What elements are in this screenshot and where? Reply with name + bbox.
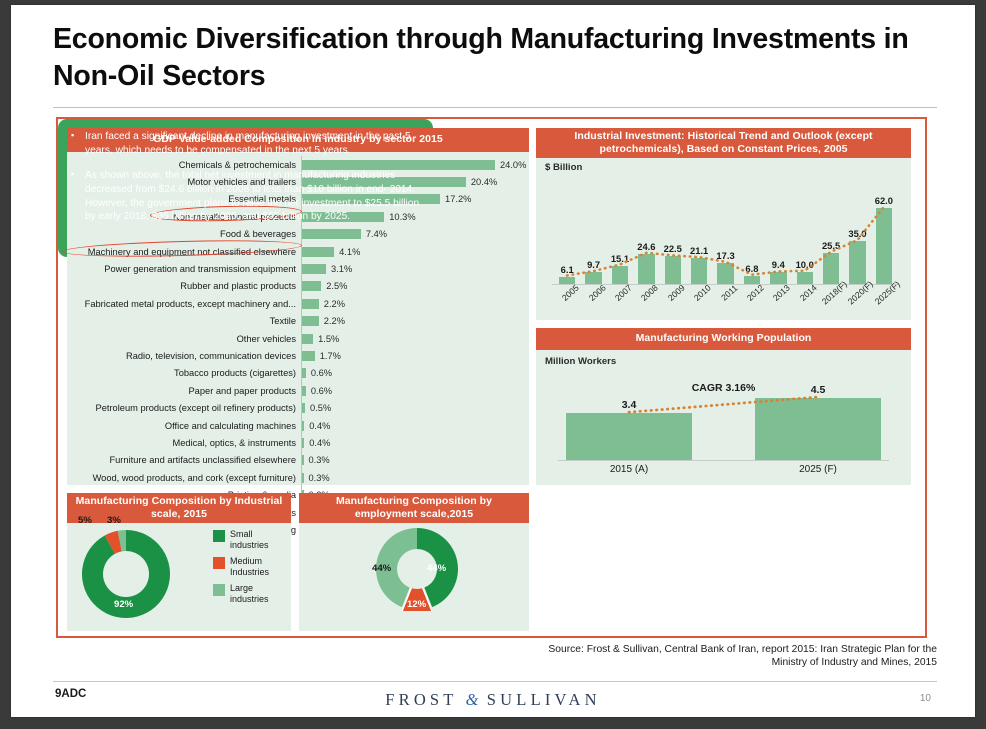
gdp-axis-line (301, 330, 302, 347)
investment-x-label-text: 2006 (586, 283, 607, 303)
page-title: Economic Diversification through Manufac… (53, 21, 933, 95)
slide-canvas: Economic Diversification through Manufac… (11, 5, 975, 717)
gdp-bar-value: 0.5% (310, 403, 331, 413)
gdp-bar-row: Petroleum products (except oil refinery … (67, 399, 529, 416)
gdp-bar-row: Power generation and transmission equipm… (67, 260, 529, 277)
donut-slice-label: 44% (372, 563, 391, 574)
gdp-bar-row: Food & beverages7.4% (67, 226, 529, 243)
gdp-bar-value: 1.7% (320, 351, 341, 361)
investment-x-label: 2014 (792, 287, 818, 327)
gdp-bar (301, 316, 319, 326)
page-number: 10 (920, 693, 931, 704)
donut-slice-label: 5% (78, 515, 92, 526)
gdp-bar-row: Furniture and artifacts unclassified els… (67, 452, 529, 469)
gdp-category-label: Office and calculating machines (67, 421, 301, 431)
investment-trend-line (554, 186, 897, 284)
investment-x-axis-labels: 2005200620072008200920102011201220132014… (554, 287, 897, 327)
gdp-bar-wrapper: 0.5% (301, 403, 529, 413)
gdp-bar-value: 3.1% (331, 264, 352, 274)
panel-investment-title: Industrial Investment: Historical Trend … (536, 128, 911, 158)
gdp-bar-row: Rubber and plastic products2.5% (67, 278, 529, 295)
gdp-bar-row: Radio, television, communication devices… (67, 347, 529, 364)
investment-x-label: 2010 (686, 287, 712, 327)
workforce-x-axis-labels: 2015 (A)2025 (F) (566, 464, 881, 475)
gdp-bar-row: Medical, optics, & instruments0.4% (67, 434, 529, 451)
investment-x-label-text: 2013 (771, 283, 792, 303)
investment-x-label-text: 2007 (613, 283, 634, 303)
workforce-trend-line (566, 382, 881, 460)
gdp-bar-row: Office and calculating machines0.4% (67, 417, 529, 434)
donut-slice-label: 3% (107, 515, 121, 526)
gdp-bar (301, 247, 334, 257)
legend-swatch (213, 584, 225, 596)
legend-item[interactable]: Medium Industries (213, 556, 291, 578)
donut-wrapper: 92%5%3% (81, 529, 171, 619)
investment-x-label: 2013 (765, 287, 791, 327)
gdp-bar-value: 0.6% (311, 386, 332, 396)
panel-workforce-title: Manufacturing Working Population (536, 328, 911, 350)
gdp-bar-value: 17.2% (445, 194, 471, 204)
donut-employment-scale: 44%12%44% (375, 527, 459, 611)
gdp-bar-value: 0.6% (311, 368, 332, 378)
investment-x-label-text: 2014 (798, 283, 819, 303)
gdp-category-label: Furniture and artifacts unclassified els… (67, 455, 301, 465)
gdp-category-label: Machinery and equipment not classified e… (67, 247, 301, 257)
footer-spacer (11, 705, 975, 717)
donut-slice-label: 44% (427, 563, 446, 574)
donut-slice-label: 92% (114, 599, 133, 610)
gdp-category-label: Textile (67, 316, 301, 326)
workforce-x-label: 2015 (A) (566, 464, 692, 475)
gdp-axis-line (301, 399, 302, 416)
gdp-bar-row: Paper and paper products0.6% (67, 382, 529, 399)
gdp-bar-value: 2.5% (326, 281, 347, 291)
gdp-bar-wrapper: 0.3% (301, 473, 529, 483)
takeaway-bullet: As shown above, the total net investment… (69, 169, 420, 225)
legend-label: Large industries (230, 583, 291, 605)
investment-x-label-text: 2009 (666, 283, 687, 303)
gdp-bar-row: Tobacco products (cigarettes)0.6% (67, 365, 529, 382)
gdp-category-label: Medical, optics, & instruments (67, 438, 301, 448)
panel-donut-employment-scale: Manufacturing Composition by employment … (299, 493, 529, 631)
legend-item[interactable]: Small industries (213, 529, 291, 551)
workforce-x-label: 2025 (F) (755, 464, 881, 475)
gdp-axis-line (301, 226, 302, 243)
investment-x-label-text: 2010 (692, 283, 713, 303)
investment-x-label: 2018(F) (818, 287, 844, 327)
panel-donut-industrial-scale: Manufacturing Composition by Industrial … (67, 493, 291, 631)
gdp-axis-line (301, 260, 302, 277)
gdp-category-label: Fabricated metal products, except machin… (67, 299, 301, 309)
gdp-bar-wrapper: 0.6% (301, 368, 529, 378)
footer-divider (53, 681, 937, 682)
investment-x-label: 2007 (607, 287, 633, 327)
legend-label: Medium Industries (230, 556, 291, 578)
gdp-category-label: Power generation and transmission equipm… (67, 264, 301, 274)
gdp-category-label: Radio, television, communication devices (67, 351, 301, 361)
gdp-bar-row: Other vehicles1.5% (67, 330, 529, 347)
workforce-baseline (558, 460, 889, 461)
gdp-bar (301, 264, 326, 274)
gdp-category-label: Paper and paper products (67, 386, 301, 396)
donut-legend: Small industriesMedium IndustriesLarge i… (213, 529, 291, 610)
takeaway-list: Iran faced a significant decline in manu… (69, 130, 420, 224)
gdp-bar-wrapper: 0.3% (301, 455, 529, 465)
investment-x-label: 2012 (739, 287, 765, 327)
gdp-axis-line (301, 452, 302, 469)
gdp-bar-wrapper: 3.1% (301, 264, 529, 274)
investment-x-label-text: 2008 (639, 283, 660, 303)
gdp-bar-wrapper: 1.7% (301, 351, 529, 361)
gdp-bar (301, 281, 321, 291)
gdp-bar-value: 0.4% (309, 438, 330, 448)
gdp-bar-value: 0.4% (309, 421, 330, 431)
gdp-category-label: Tobacco products (cigarettes) (67, 368, 301, 378)
investment-x-label: 2006 (580, 287, 606, 327)
gdp-bar-value: 0.3% (309, 473, 330, 483)
gdp-category-label: Food & beverages (67, 229, 301, 239)
workforce-chart-area: CAGR 3.16% 3.44.5 2015 (A)2025 (F) (544, 354, 903, 483)
gdp-bar-value: 0.3% (309, 455, 330, 465)
gdp-bar (301, 351, 315, 361)
gdp-category-label: Rubber and plastic products (67, 281, 301, 291)
gdp-bar-value: 20.4% (471, 177, 497, 187)
gdp-axis-line (301, 417, 302, 434)
donut-industrial-scale: 92%5%3% (81, 529, 171, 619)
gdp-bar-wrapper: 7.4% (301, 229, 529, 239)
investment-x-label: 2025(F) (871, 287, 897, 327)
source-note: Source: Frost & Sullivan, Central Bank o… (511, 643, 937, 670)
gdp-bar-row: Wood, wood products, and cork (except fu… (67, 469, 529, 486)
donut-hole (103, 551, 149, 597)
gdp-category-label: Other vehicles (67, 334, 301, 344)
legend-swatch (213, 557, 225, 569)
gdp-axis-line (301, 243, 302, 260)
legend-label: Small industries (230, 529, 291, 551)
title-divider (53, 107, 937, 108)
takeaway-bullet: Iran faced a significant decline in manu… (69, 130, 420, 158)
panel-donut-industrial-title: Manufacturing Composition by Industrial … (67, 493, 291, 523)
legend-item[interactable]: Large industries (213, 583, 291, 605)
investment-x-label: 2008 (633, 287, 659, 327)
gdp-bar-row: Textile2.2% (67, 313, 529, 330)
gdp-bar-value: 2.2% (324, 316, 345, 326)
gdp-bar-row: Fabricated metal products, except machin… (67, 295, 529, 312)
gdp-axis-line (301, 295, 302, 312)
gdp-axis-line (301, 313, 302, 330)
gdp-bar-value: 4.1% (339, 247, 360, 257)
gdp-category-label: Wood, wood products, and cork (except fu… (67, 473, 301, 483)
gdp-axis-line (301, 278, 302, 295)
panel-industrial-investment: Industrial Investment: Historical Trend … (536, 128, 911, 320)
legend-swatch (213, 530, 225, 542)
gdp-bar (301, 299, 319, 309)
investment-x-label: 2005 (554, 287, 580, 327)
gdp-bar-wrapper: 0.4% (301, 421, 529, 431)
gdp-axis-line (301, 434, 302, 451)
investment-x-label: 2011 (712, 287, 738, 327)
gdp-bar-wrapper: 2.2% (301, 299, 529, 309)
gdp-bar-wrapper: 1.5% (301, 334, 529, 344)
gdp-axis-line (301, 469, 302, 486)
gdp-bar-value: 24.0% (500, 160, 526, 170)
gdp-bar-value: 2.2% (324, 299, 345, 309)
panel-working-population: Manufacturing Working Population Million… (536, 328, 911, 485)
investment-x-label: 2020(F) (844, 287, 870, 327)
content-frame: GDP Value-added Composition in industry … (56, 117, 927, 638)
gdp-bar-wrapper: 2.5% (301, 281, 529, 291)
gdp-bar-wrapper: 0.4% (301, 438, 529, 448)
donut-slice-label: 12% (407, 599, 426, 610)
investment-x-label-text: 2011 (719, 283, 739, 303)
gdp-bar-wrapper: 4.1% (301, 247, 529, 257)
investment-x-label: 2009 (660, 287, 686, 327)
panel-donut-employment-title: Manufacturing Composition by employment … (299, 493, 529, 523)
investment-x-label-text: 2012 (745, 283, 766, 303)
investment-chart-area: 6.19.715.124.622.521.117.36.89.410.025.5… (544, 166, 903, 317)
gdp-axis-line (301, 365, 302, 382)
gdp-axis-line (301, 382, 302, 399)
gdp-bar-row: Machinery and equipment not classified e… (67, 243, 529, 260)
gdp-bar-wrapper: 0.6% (301, 386, 529, 396)
gdp-bar (301, 229, 361, 239)
gdp-axis-line (301, 347, 302, 364)
gdp-category-label: Petroleum products (except oil refinery … (67, 403, 301, 413)
investment-x-label-text: 2005 (560, 283, 581, 303)
gdp-bar (301, 334, 313, 344)
gdp-bar-value: 7.4% (366, 229, 387, 239)
gdp-bar-wrapper: 2.2% (301, 316, 529, 326)
donut-wrapper: 44%12%44% (375, 527, 459, 611)
gdp-bar-value: 1.5% (318, 334, 339, 344)
